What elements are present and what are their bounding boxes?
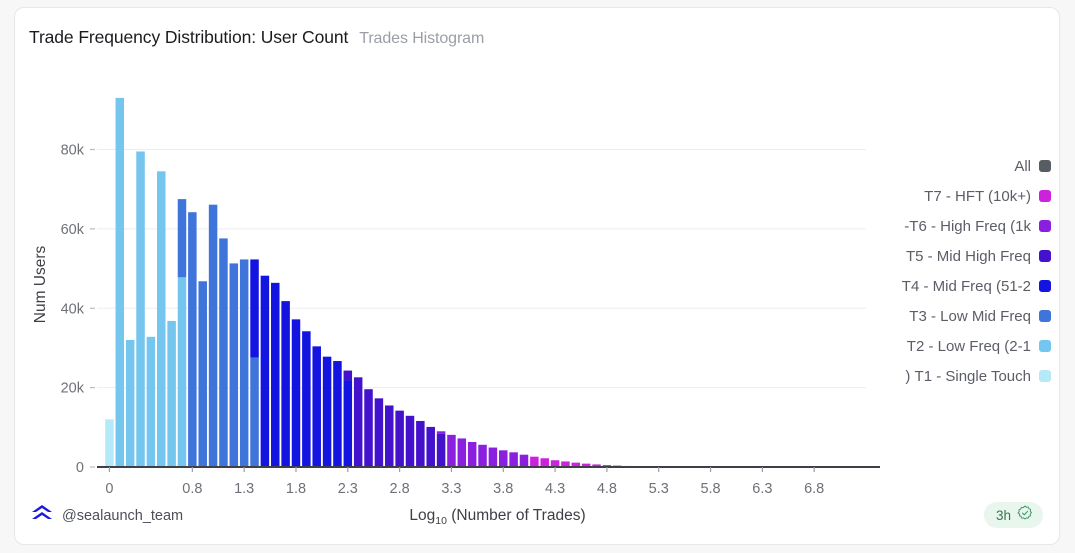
y-tick-label: 40k: [61, 301, 85, 317]
histogram-bar-segment: [250, 259, 259, 357]
histogram-bar-segment: [230, 263, 239, 467]
sealaunch-logo-icon: [31, 505, 53, 527]
legend-color-swatch: [1039, 280, 1051, 292]
histogram-bar-segment: [489, 448, 498, 467]
x-axis-title: Log10 (Number of Trades): [409, 507, 585, 527]
x-tick-label: 5.3: [649, 481, 669, 497]
x-tick-label: 3.8: [493, 481, 513, 497]
histogram-bar-segment: [385, 405, 394, 467]
histogram-bar-segment: [292, 319, 301, 467]
legend-color-swatch: [1039, 220, 1051, 232]
histogram-bar-segment: [198, 281, 207, 467]
histogram-bar-segment: [240, 259, 249, 467]
legend-item-label: T7 - HFT (10k+): [924, 188, 1031, 205]
x-tick-label: 3.3: [441, 481, 461, 497]
histogram-bar-segment: [458, 438, 467, 467]
legend-color-swatch: [1039, 340, 1051, 352]
legend-item-t6[interactable]: T6 - High Freq (1k-: [841, 212, 1051, 240]
histogram-bar-segment: [323, 357, 332, 467]
y-tick-label: 20k: [61, 381, 85, 397]
legend-item-label: T1 - Single Touch (: [905, 368, 1031, 385]
histogram-bar-segment: [530, 457, 539, 467]
x-tick-label: 2.3: [338, 481, 358, 497]
histogram-bar-segment: [126, 340, 135, 467]
chart-card: Trade Frequency Distribution: User Count…: [14, 7, 1060, 545]
histogram-bar-segment: [302, 331, 311, 467]
status-badge: 3h: [984, 502, 1043, 528]
legend-item-label: T3 - Low Mid Freq: [909, 308, 1031, 325]
legend-item-t7[interactable]: T7 - HFT (10k+): [841, 182, 1051, 210]
x-axis-title-base: Log: [409, 507, 435, 524]
legend-item-all[interactable]: All: [841, 152, 1051, 180]
legend-item-t1[interactable]: T1 - Single Touch (: [841, 362, 1051, 390]
x-axis-title-subscript: 10: [435, 515, 447, 527]
histogram-bar-segment: [468, 442, 477, 467]
histogram-bar-segment: [437, 431, 446, 433]
histogram-bar-segment: [333, 361, 342, 467]
histogram-bar-segment: [406, 416, 415, 467]
histogram-bar-segment: [178, 277, 187, 467]
histogram-bar-segment: [271, 283, 280, 467]
y-tick-label: 80k: [61, 143, 85, 159]
histogram-bar-segment: [344, 380, 353, 467]
legend-item-label: All: [1014, 158, 1031, 175]
author-handle: @sealaunch_team: [62, 508, 183, 524]
histogram-bar-segment: [395, 411, 404, 467]
histogram-bar-segment: [178, 199, 187, 277]
legend-item-t2[interactable]: T2 - Low Freq (2-1: [841, 332, 1051, 360]
histogram-bar-segment: [281, 301, 290, 467]
legend-item-label: T6 - High Freq (1k-: [904, 218, 1031, 235]
legend-item-t4[interactable]: T4 - Mid Freq (51-2: [841, 272, 1051, 300]
histogram-bar-segment: [551, 460, 560, 467]
histogram-bar-segment: [261, 276, 270, 467]
legend-item-label: T5 - Mid High Freq: [906, 248, 1031, 265]
y-tick-label: 60k: [61, 222, 85, 238]
legend-color-swatch: [1039, 160, 1051, 172]
x-tick-label: 0: [105, 481, 113, 497]
verified-seal-icon: [1017, 505, 1033, 526]
histogram-bar-segment: [499, 450, 508, 467]
histogram-bar-segment: [136, 151, 145, 467]
legend-color-swatch: [1039, 310, 1051, 322]
legend-color-swatch: [1039, 250, 1051, 262]
histogram-bar-segment: [478, 445, 487, 467]
histogram-bar-segment: [312, 346, 321, 467]
x-tick-label: 1.3: [234, 481, 254, 497]
x-tick-label: 2.8: [390, 481, 410, 497]
histogram-bar-segment: [250, 357, 259, 467]
histogram-bar-segment: [147, 337, 156, 467]
bars-group: [105, 98, 715, 468]
histogram-bar-segment: [167, 321, 176, 467]
legend-color-swatch: [1039, 190, 1051, 202]
histogram-bar-segment: [188, 212, 197, 467]
legend-item-label: T2 - Low Freq (2-1: [907, 338, 1031, 355]
histogram-bar-segment: [520, 455, 529, 467]
x-tick-label: 5.8: [700, 481, 720, 497]
histogram-bar-segment: [105, 419, 114, 467]
x-tick-label: 1.8: [286, 481, 306, 497]
histogram-bar-segment: [375, 398, 384, 467]
histogram-bar-segment: [354, 377, 363, 467]
legend-color-swatch: [1039, 370, 1051, 382]
x-tick-label: 6.3: [752, 481, 772, 497]
author-attribution: @sealaunch_team: [31, 505, 183, 527]
x-tick-label: 0.8: [182, 481, 202, 497]
badge-age-label: 3h: [996, 508, 1011, 523]
legend-item-t5[interactable]: T5 - Mid High Freq: [841, 242, 1051, 270]
histogram-bar-segment: [426, 427, 435, 467]
x-tick-label: 6.8: [804, 481, 824, 497]
legend-item-t3[interactable]: T3 - Low Mid Freq: [841, 302, 1051, 330]
histogram-bar-segment: [344, 371, 353, 381]
screenshot-root: Trade Frequency Distribution: User Count…: [0, 0, 1075, 553]
x-tick-label: 4.8: [597, 481, 617, 497]
histogram-bar-segment: [364, 389, 373, 467]
histogram-bar-segment: [219, 238, 228, 467]
histogram-bar-segment: [447, 435, 456, 467]
x-tick-label: 4.3: [545, 481, 565, 497]
histogram-bar-segment: [209, 205, 218, 467]
y-tick-label: 0: [76, 460, 84, 476]
histogram-bar-segment: [437, 434, 446, 467]
histogram-bar-segment: [509, 452, 518, 467]
y-axis-title: Num Users: [32, 246, 49, 324]
legend-item-label: T4 - Mid Freq (51-2: [902, 278, 1031, 295]
histogram-bar-segment: [540, 458, 549, 467]
histogram-bar-segment: [416, 421, 425, 467]
histogram-bar-segment: [157, 171, 166, 467]
histogram-bar-segment: [116, 98, 125, 467]
x-axis-title-rest: (Number of Trades): [447, 507, 586, 524]
chart-legend[interactable]: AllT7 - HFT (10k+)T6 - High Freq (1k-T5 …: [841, 152, 1051, 390]
